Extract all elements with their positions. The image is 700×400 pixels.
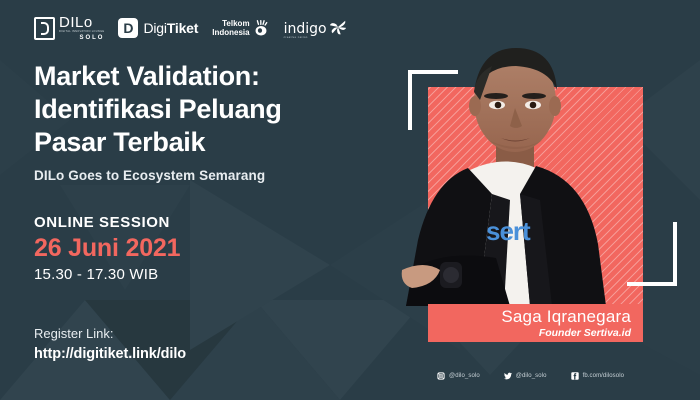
social-facebook[interactable]: fb.com/dilosolo: [571, 372, 625, 380]
social-links: @dilo_solo @dilo_solo fb.com/dilosolo: [437, 372, 624, 380]
dilo-wordmark: DILo: [59, 15, 104, 30]
digitiket-wordmark: DigiTiket: [143, 20, 198, 36]
logo-telkom-indonesia: Telkom Indonesia: [212, 19, 269, 37]
telkom-wordmark: Telkom Indonesia: [212, 19, 249, 37]
digitiket-word-bold: Tiket: [167, 20, 198, 36]
digitiket-mark-icon: D: [118, 18, 138, 38]
indigo-wordmark: indigo: [284, 22, 327, 36]
telkom-line-1: Telkom: [212, 19, 249, 28]
speaker-name-bar: Saga Iqranegara Founder Sertiva.id: [428, 304, 643, 342]
facebook-handle: fb.com/dilosolo: [583, 373, 625, 379]
speaker-role: Founder Sertiva.id: [539, 327, 631, 339]
speaker-name: Saga Iqranegara: [501, 307, 631, 327]
digitiket-mark-letter: D: [123, 21, 133, 35]
register-label: Register Link:: [34, 326, 113, 341]
indigo-tagline: creative nation: [284, 36, 327, 39]
headline-line-3: Pasar Terbaik: [34, 126, 379, 159]
subtitle: DILo Goes to Ecosystem Semarang: [34, 168, 265, 183]
dilo-tagline: DIGITAL INNOVATION LOUNGE: [59, 31, 104, 34]
logo-indigo: indigo creative nation: [284, 18, 347, 39]
indigo-fan-icon: [329, 18, 347, 36]
dilo-city-label: SOLO: [59, 35, 104, 41]
dilo-mark-icon: [34, 17, 55, 40]
register-link[interactable]: http://digitiket.link/dilo: [34, 346, 186, 362]
facebook-icon: [571, 372, 579, 380]
session-time: 15.30 - 17.30 WIB: [34, 266, 158, 283]
headline-line-2: Identifikasi Peluang: [34, 93, 379, 126]
headline-line-1: Market Validation:: [34, 60, 379, 93]
digitiket-word-light: Digi: [143, 20, 166, 36]
partner-logo-bar: DILo DIGITAL INNOVATION LOUNGE SOLO D Di…: [34, 12, 347, 44]
session-type-label: ONLINE SESSION: [34, 214, 170, 231]
instagram-handle: @dilo_solo: [449, 373, 480, 379]
twitter-handle: @dilo_solo: [516, 373, 547, 379]
logo-dilo-solo: DILo DIGITAL INNOVATION LOUNGE SOLO: [34, 15, 104, 41]
svg-text:sert: sert: [486, 216, 531, 246]
telkom-line-2: Indonesia: [212, 28, 249, 37]
telkom-hand-icon: [253, 20, 270, 37]
social-twitter[interactable]: @dilo_solo: [504, 372, 547, 380]
instagram-icon: [437, 372, 445, 380]
frame-bracket-bottom-right: [627, 222, 677, 286]
logo-digitiket: D DigiTiket: [118, 18, 198, 38]
social-instagram[interactable]: @dilo_solo: [437, 372, 480, 380]
event-poster: DILo DIGITAL INNOVATION LOUNGE SOLO D Di…: [0, 0, 700, 400]
page-title: Market Validation: Identifikasi Peluang …: [34, 60, 379, 159]
session-date: 26 Juni 2021: [34, 234, 180, 263]
twitter-icon: [504, 372, 512, 380]
